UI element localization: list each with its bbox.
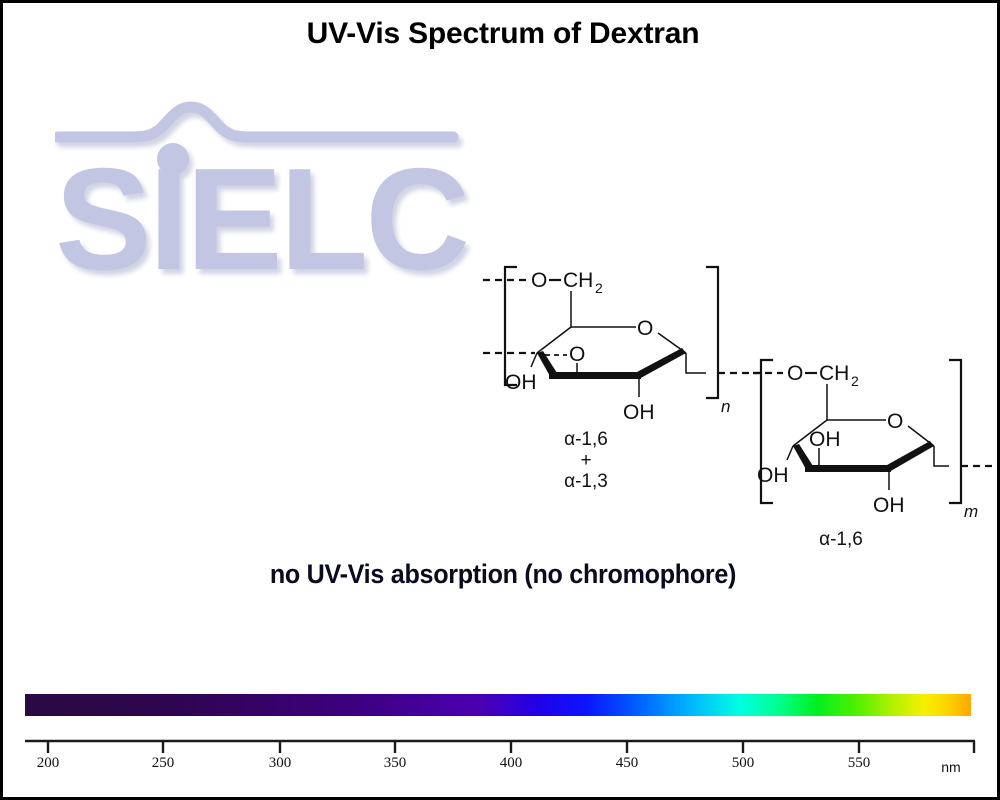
axis-label-350: 350	[384, 755, 407, 772]
unit1-label-exocyclic-O: O	[531, 269, 547, 292]
unit2-bond-C2-C1-bold	[887, 441, 934, 472]
unit2-linkage-label: α-1,6	[819, 529, 863, 550]
unit1-label-OH-left: OH	[505, 371, 537, 394]
unit2-label-exocyclic-O: O	[787, 362, 803, 385]
axis-label-550: 550	[848, 755, 871, 772]
unit1-label-OH-bottom: OH	[623, 401, 655, 424]
unit1-linkage-label-3: α-1,3	[564, 471, 608, 492]
unit1-label-substituent-O: O	[569, 343, 585, 366]
visible-spectrum-gradient-bar	[25, 694, 971, 716]
unit2-bond-C4-OH	[787, 446, 793, 460]
unit1-linkage-label-1: α-1,6	[564, 429, 608, 450]
unit1-label-ring-O: O	[637, 317, 653, 340]
unit2-label-OH-bottom: OH	[873, 494, 905, 517]
axis-label-250: 250	[152, 755, 175, 772]
axis-label-500: 500	[732, 755, 755, 772]
unit1-bond-C2-C1-bold	[637, 348, 686, 379]
unit1-bond-C5-C4	[537, 327, 571, 353]
axis-label-400: 400	[500, 755, 523, 772]
dextran-unit-1: n O CH 2 O	[483, 267, 761, 492]
unit1-label-CH2: CH	[563, 269, 593, 292]
logo-wordmark: SIELC	[55, 138, 467, 294]
unit2-subscript-m: m	[964, 502, 978, 521]
unit1-bracket-left	[505, 267, 517, 385]
figure-frame: UV-Vis Spectrum of Dextran SIELC	[0, 0, 1000, 800]
unit2-label-OH-left: OH	[757, 464, 789, 487]
unit1-linkage-label-2: +	[580, 450, 591, 471]
unit2-label-CH2: CH	[819, 362, 849, 385]
unit1-subscript-n: n	[721, 397, 730, 416]
unit1-bracket-right	[706, 267, 718, 398]
dextran-unit-2: m O CH 2 O OH	[753, 360, 993, 550]
axis-label-200: 200	[37, 755, 60, 772]
unit1-bond-C4-OH	[531, 353, 537, 367]
unit2-label-CH2-subscript: 2	[851, 373, 859, 389]
unit1-bond-C1-out	[686, 353, 706, 373]
axis-label-450: 450	[616, 755, 639, 772]
unit2-bracket-right	[949, 360, 961, 503]
dextran-structure-diagram: n O CH 2 O	[473, 255, 993, 555]
axis-label-300: 300	[269, 755, 292, 772]
unit2-label-OH-top: OH	[809, 428, 841, 451]
unit1-label-CH2-subscript: 2	[595, 280, 603, 296]
chromatogram-peak-line	[58, 107, 453, 137]
unit1-bond-C3-C2-bold	[549, 372, 641, 379]
no-absorption-caption: no UV-Vis absorption (no chromophore)	[38, 559, 968, 590]
sielc-logo: SIELC	[55, 99, 485, 294]
axis-unit-label: nm	[941, 759, 960, 775]
unit2-bond-C3-C2-bold	[805, 465, 891, 472]
unit2-bond-C1-out	[934, 446, 949, 466]
unit2-label-ring-O: O	[887, 410, 903, 433]
page-title: UV-Vis Spectrum of Dextran	[3, 17, 1000, 51]
